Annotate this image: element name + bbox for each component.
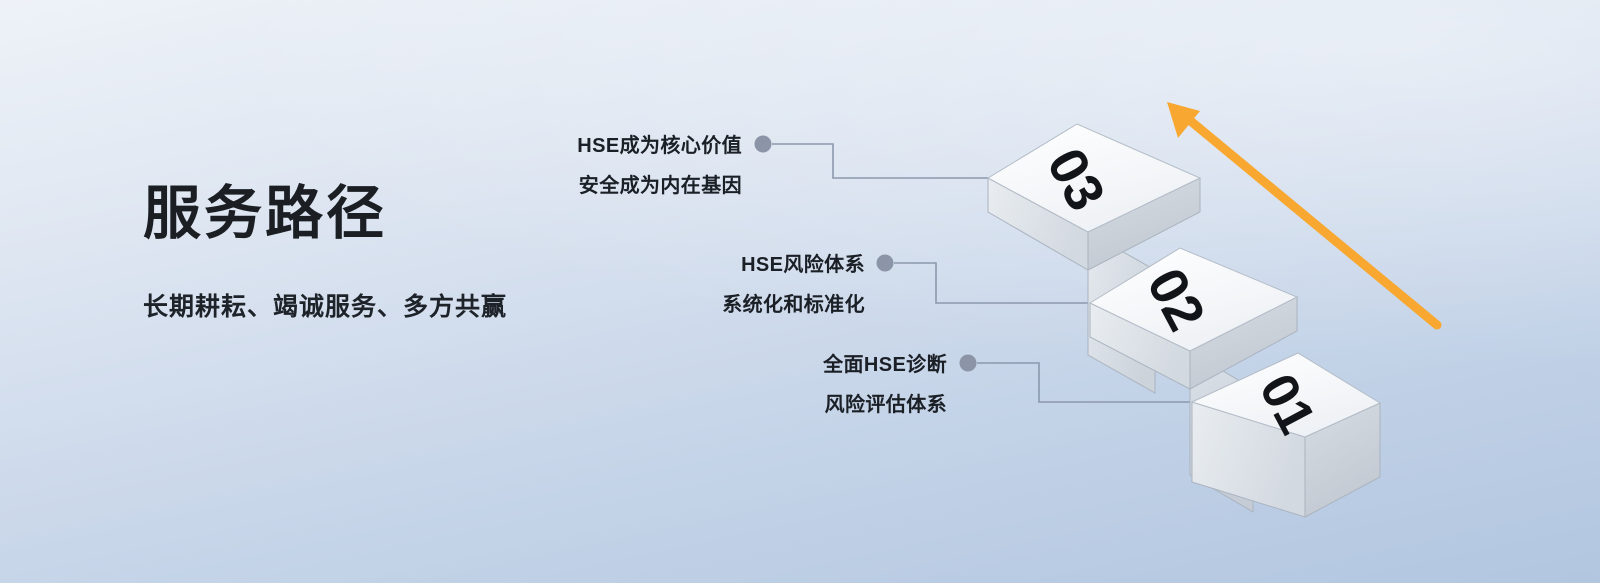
callout-step-3-line2: 安全成为内在基因 [330, 156, 742, 196]
connector-dot-step-3 [755, 136, 772, 153]
callout-step-1: 全面HSE诊断 风险评估体系 [535, 355, 947, 415]
callout-step-1-line1: 全面HSE诊断 [823, 354, 947, 376]
connector-dot-step-2 [877, 255, 894, 272]
slide-canvas: 服务路径 长期耕耘、竭诚服务、多方共赢 [0, 0, 1600, 583]
callout-step-1-line2: 风险评估体系 [535, 375, 947, 415]
callout-step-3-line1: HSE成为核心价值 [577, 135, 742, 157]
callout-step-2-line2: 系统化和标准化 [455, 275, 865, 315]
callout-step-2: HSE风险体系 系统化和标准化 [455, 255, 865, 315]
connector-dot-step-1 [960, 355, 977, 372]
callout-step-2-line1: HSE风险体系 [741, 254, 865, 276]
callout-step-3: HSE成为核心价值 安全成为内在基因 [330, 136, 742, 196]
connector-line-step-3 [755, 136, 991, 179]
connector-line-step-2 [877, 255, 1091, 304]
